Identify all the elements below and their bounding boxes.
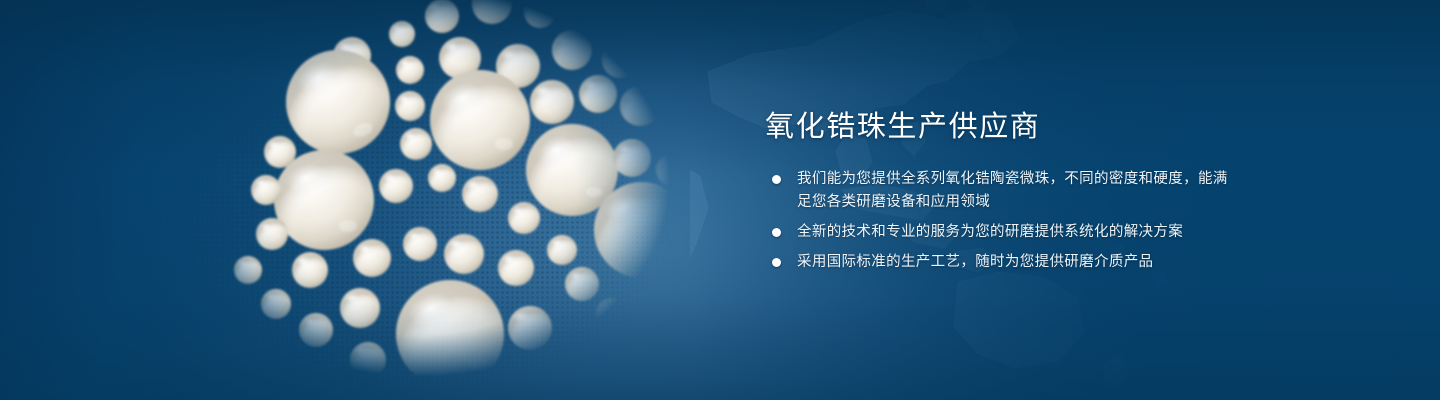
bullet-dot-icon xyxy=(772,228,781,237)
list-item-label: 我们能为您提供全系列氧化锆陶瓷微珠，不同的密度和硬度，能满足您各类研磨设备和应用… xyxy=(797,171,1228,210)
list-item: 全新的技术和专业的服务为您的研磨提供系统化的解决方案 xyxy=(767,221,1237,244)
list-item-label: 采用国际标准的生产工艺，随时为您提供研磨介质产品 xyxy=(797,254,1153,270)
list-item: 采用国际标准的生产工艺，随时为您提供研磨介质产品 xyxy=(767,251,1237,274)
list-item-label: 全新的技术和专业的服务为您的研磨提供系统化的解决方案 xyxy=(797,224,1183,240)
zirconia-beads-photo xyxy=(120,0,740,400)
bullet-dot-icon xyxy=(772,175,781,184)
banner-content: 氧化锆珠生产供应商 我们能为您提供全系列氧化锆陶瓷微珠，不同的密度和硬度，能满足… xyxy=(765,0,1325,400)
page-title: 氧化锆珠生产供应商 xyxy=(765,110,1040,144)
bullet-dot-icon xyxy=(772,258,781,267)
hero-banner: 氧化锆珠生产供应商 我们能为您提供全系列氧化锆陶瓷微珠，不同的密度和硬度，能满足… xyxy=(0,0,1440,400)
feature-list: 我们能为您提供全系列氧化锆陶瓷微珠，不同的密度和硬度，能满足您各类研磨设备和应用… xyxy=(767,168,1237,274)
list-item: 我们能为您提供全系列氧化锆陶瓷微珠，不同的密度和硬度，能满足您各类研磨设备和应用… xyxy=(767,168,1237,214)
